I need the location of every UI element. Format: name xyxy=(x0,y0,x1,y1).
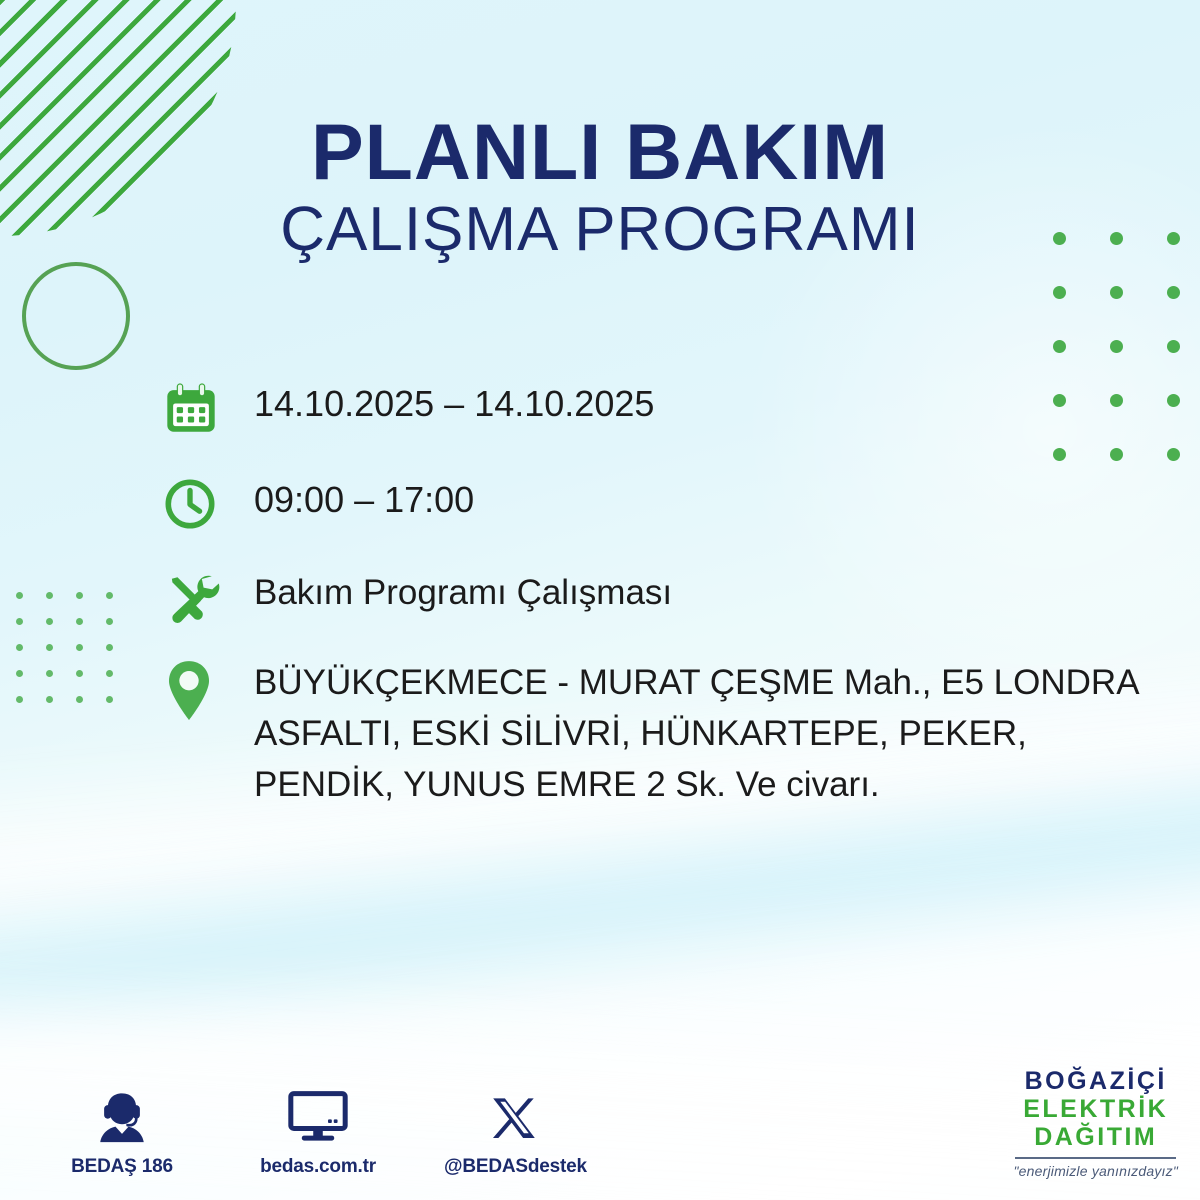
location-pin-icon xyxy=(162,656,254,724)
poster-canvas: PLANLI BAKIM ÇALIŞMA PROGRAMI xyxy=(0,0,1200,1200)
footer-label-x-account: @BEDASdestek xyxy=(444,1156,584,1178)
brand-divider xyxy=(1015,1157,1176,1159)
brand-tagline: "enerjimizle yanınızdayız" xyxy=(1013,1164,1178,1178)
page-title: PLANLI BAKIM ÇALIŞMA PROGRAMI xyxy=(0,112,1200,262)
monitor-icon xyxy=(248,1084,388,1146)
footer-item-website[interactable]: bedas.com.tr xyxy=(248,1084,388,1178)
calendar-icon xyxy=(162,378,254,438)
info-row-time: 09:00 – 17:00 xyxy=(162,474,1172,532)
footer-label-website: bedas.com.tr xyxy=(248,1156,388,1178)
footer-item-x-account[interactable]: @BEDASdestek xyxy=(444,1084,584,1178)
brand-line-bogazici: BOĞAZİÇİ xyxy=(1013,1069,1178,1094)
info-value-address: BÜYÜKÇEKMECE - MURAT ÇEŞME Mah., E5 LOND… xyxy=(254,656,1172,810)
footer-contact-list: BEDAŞ 186 bedas.com.tr xyxy=(52,1084,584,1178)
info-value-date: 14.10.2025 – 14.10.2025 xyxy=(254,378,1172,428)
info-row-address: BÜYÜKÇEKMECE - MURAT ÇEŞME Mah., E5 LOND… xyxy=(162,656,1172,810)
footer-label-call-center: BEDAŞ 186 xyxy=(52,1156,192,1178)
dot-grid-left-decoration xyxy=(16,592,113,703)
brand-line-dagitim: DAĞITIM xyxy=(1013,1125,1178,1150)
title-subtitle: ÇALIŞMA PROGRAMI xyxy=(0,197,1200,262)
info-row-date: 14.10.2025 – 14.10.2025 xyxy=(162,378,1172,438)
circle-outline-decoration xyxy=(22,262,130,370)
clock-icon xyxy=(162,474,254,532)
info-value-time: 09:00 – 17:00 xyxy=(254,474,1172,524)
support-agent-icon xyxy=(52,1084,192,1146)
title-main: PLANLI BAKIM xyxy=(0,112,1200,193)
x-logo-icon xyxy=(444,1084,584,1146)
footer-item-call-center[interactable]: BEDAŞ 186 xyxy=(52,1084,192,1178)
info-row-work-type: Bakım Programı Çalışması xyxy=(162,568,1172,628)
info-list: 14.10.2025 – 14.10.2025 09:00 – 17:00 xyxy=(162,378,1172,836)
footer: BEDAŞ 186 bedas.com.tr xyxy=(0,1020,1200,1200)
info-value-work-type: Bakım Programı Çalışması xyxy=(254,568,1172,616)
brand-logo: BOĞAZİÇİ ELEKTRİK DAĞITIM "enerjimizle y… xyxy=(1013,1069,1178,1178)
tools-icon xyxy=(162,568,254,628)
brand-line-elektrik: ELEKTRİK xyxy=(1013,1097,1178,1122)
